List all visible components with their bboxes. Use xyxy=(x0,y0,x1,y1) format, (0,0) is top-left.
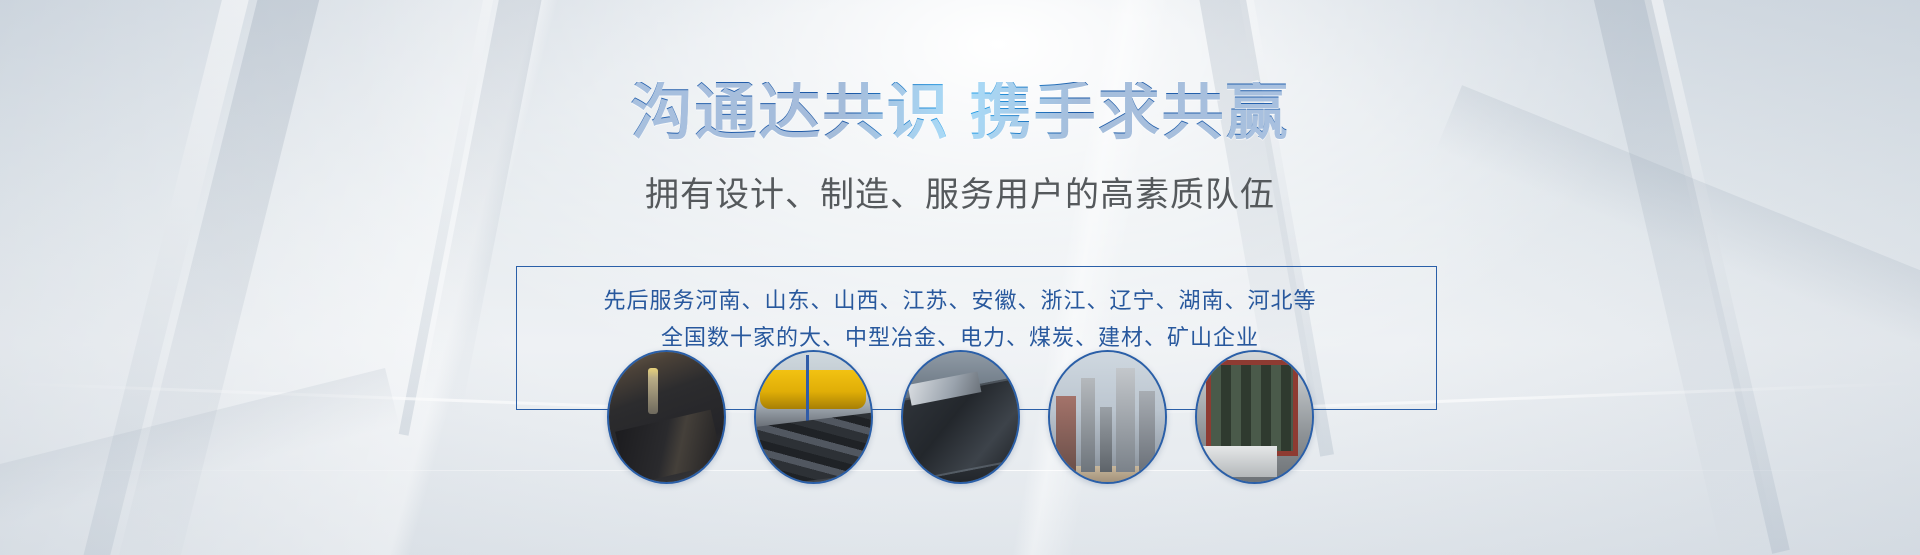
promo-banner: 沟通达共识 携手求共赢 拥有设计、制造、服务用户的高素质队伍 先后服务河南、山东… xyxy=(0,0,1920,555)
photo-red-steel-frame-workshop-image xyxy=(1197,352,1312,482)
workshop-equipment xyxy=(1224,451,1249,472)
plant-tower-2 xyxy=(1081,378,1096,472)
plant-tower-5 xyxy=(1139,391,1155,472)
service-info-line-1: 先后服务河南、山东、山西、江苏、安徽、浙江、辽宁、湖南、河北等 xyxy=(0,283,1920,315)
crane-mast xyxy=(806,355,809,423)
project-photo-strip xyxy=(0,352,1920,482)
photo-yellow-machinery-pipes xyxy=(754,350,873,484)
photo-yellow-machinery-pipes-image xyxy=(756,352,871,482)
plant-tower-1 xyxy=(1056,396,1076,471)
plant-tower-3 xyxy=(1100,407,1112,472)
plant-tower-4 xyxy=(1116,368,1134,472)
banner-content: 沟通达共识 携手求共赢 拥有设计、制造、服务用户的高素质队伍 先后服务河南、山东… xyxy=(0,0,1920,555)
photo-large-steel-panel xyxy=(901,350,1020,484)
service-info-line-2: 全国数十家的大、中型冶金、电力、煤炭、建材、矿山企业 xyxy=(0,320,1920,352)
page-subtitle: 拥有设计、制造、服务用户的高素质队伍 xyxy=(0,178,1920,212)
photo-industrial-plant xyxy=(1048,350,1167,484)
photo-large-steel-panel-image xyxy=(903,352,1018,482)
photo-steel-plate-installation-image xyxy=(609,352,724,482)
worker-figure xyxy=(837,422,852,474)
photo-red-steel-frame-workshop xyxy=(1195,350,1314,484)
photo-steel-plate-installation xyxy=(607,350,726,484)
photo-industrial-plant-image xyxy=(1050,352,1165,482)
page-title: 沟通达共识 携手求共赢 xyxy=(0,82,1920,144)
